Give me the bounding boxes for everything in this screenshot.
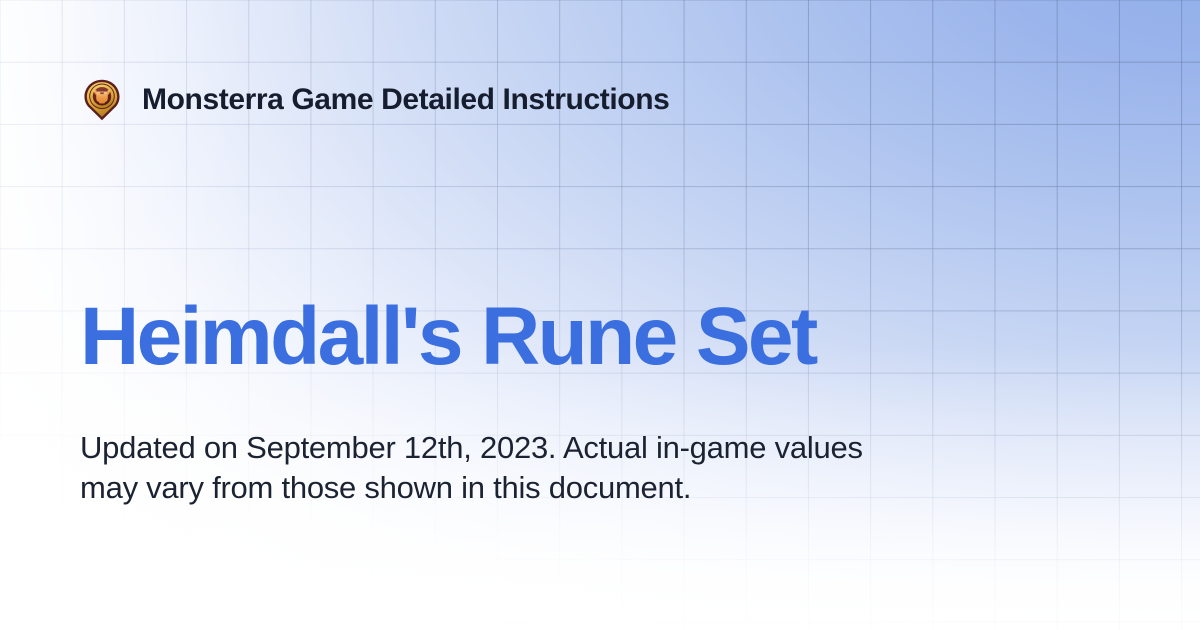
page-title: Heimdall's Rune Set bbox=[80, 294, 816, 381]
brand-title: Monsterra Game Detailed Instructions bbox=[142, 85, 669, 115]
card-content: Monsterra Game Detailed Instructions Hei… bbox=[0, 0, 1200, 630]
monsterra-pin-bull-logo-icon bbox=[80, 78, 124, 122]
page-subtitle: Updated on September 12th, 2023. Actual … bbox=[80, 428, 870, 509]
og-share-card: Monsterra Game Detailed Instructions Hei… bbox=[0, 0, 1200, 630]
brand-row: Monsterra Game Detailed Instructions bbox=[80, 78, 669, 122]
